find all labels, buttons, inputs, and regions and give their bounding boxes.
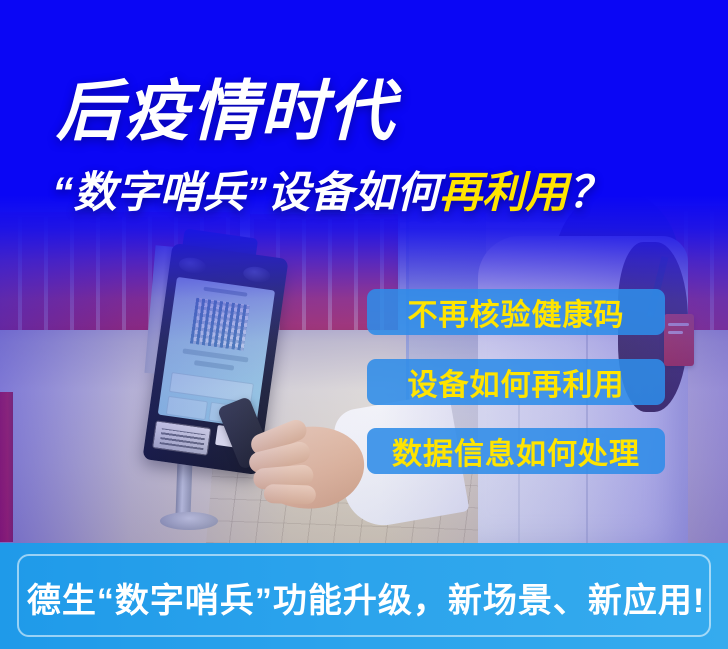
- page-title: 后疫情时代: [56, 78, 396, 144]
- subtitle-suffix: ？: [568, 169, 611, 217]
- feature-pill-label: 数据信息如何处理: [392, 429, 640, 473]
- feature-pill-label: 不再核验健康码: [408, 290, 625, 334]
- page-subtitle: “数字哨兵”设备如何再利用？: [52, 172, 611, 215]
- feature-pill-data-handling[interactable]: 数据信息如何处理: [367, 428, 665, 474]
- banner-text: 德生“数字哨兵”功能升级，新场景、新应用!: [19, 556, 713, 639]
- bottom-banner: 德生“数字哨兵”功能升级，新场景、新应用!: [0, 543, 728, 649]
- banner-frame: 德生“数字哨兵”功能升级，新场景、新应用!: [17, 554, 711, 637]
- subtitle-highlight: 再利用: [439, 169, 568, 217]
- feature-pill-label: 设备如何再利用: [408, 360, 625, 404]
- feature-pill-health-code[interactable]: 不再核验健康码: [367, 289, 665, 335]
- feature-pill-device-reuse[interactable]: 设备如何再利用: [367, 359, 665, 405]
- poster-canvas: 后疫情时代 “数字哨兵”设备如何再利用？ 不再核验健康码 设备如何再利用 数据信…: [0, 0, 728, 649]
- subtitle-prefix: “数字哨兵”设备如何: [52, 169, 439, 217]
